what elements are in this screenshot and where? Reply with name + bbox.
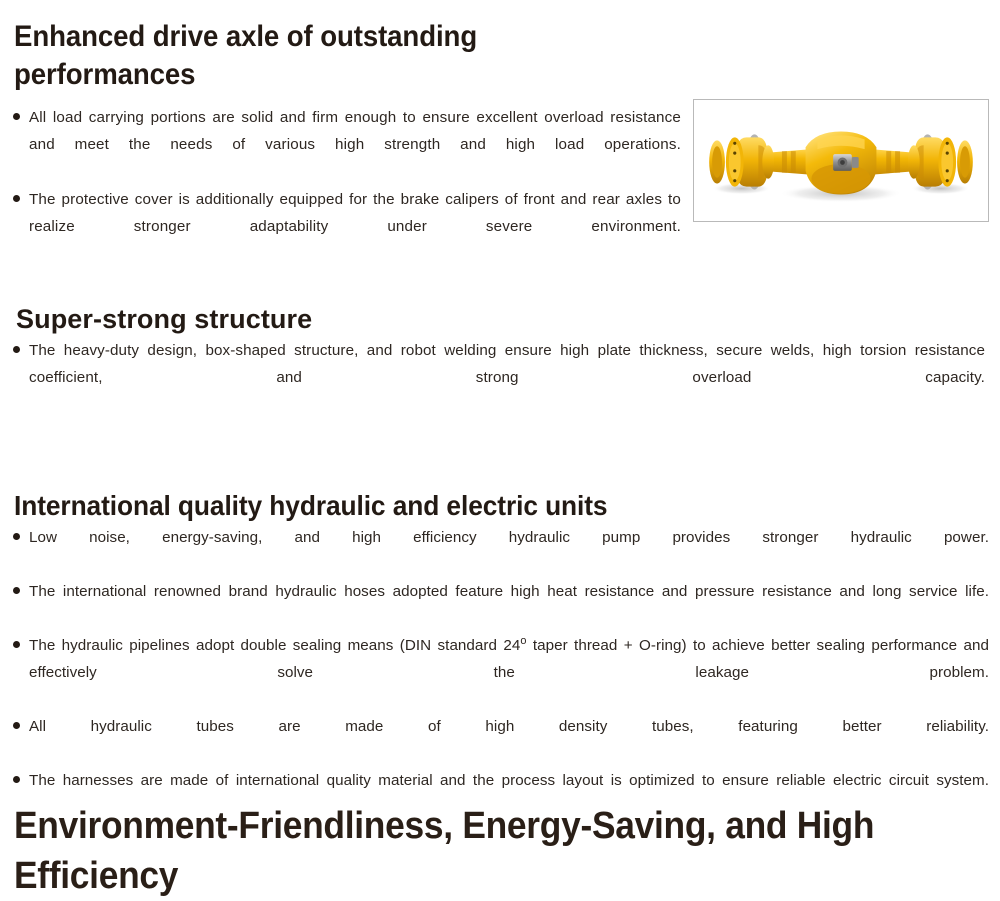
list-item-text: All hydraulic tubes are made of high den… [29,713,989,767]
bullet-dot-icon [13,722,20,729]
bullet-dot-icon [13,776,20,783]
feature-list-drive-axle: All load carrying portions are solid and… [13,104,681,268]
list-item-text: The international renowned brand hydraul… [29,578,989,632]
list-item: The protective cover is additionally equ… [13,186,681,267]
feature-list-international: Low noise, energy-saving, and high effic… [13,524,989,821]
bullet-dot-icon [13,641,20,648]
bullet-dot-icon [13,346,20,353]
list-item: The international renowned brand hydraul… [13,578,989,632]
document-page: Enhanced drive axle of outstanding perfo… [0,0,1000,895]
list-item-text: The hydraulic pipelines adopt double sea… [29,632,989,713]
list-item-text: All load carrying portions are solid and… [29,104,681,185]
list-item: The hydraulic pipelines adopt double sea… [13,632,989,713]
list-item: All load carrying portions are solid and… [13,104,681,185]
section-heading-super-strong: Super-strong structure [16,302,312,336]
bullet-dot-icon [13,587,20,594]
list-item-text: The protective cover is additionally equ… [29,186,681,267]
list-item-text: Low noise, energy-saving, and high effic… [29,524,989,578]
list-item-text: The heavy-duty design, box-shaped struct… [29,337,985,418]
bullet-dot-icon [13,533,20,540]
bullet-dot-icon [13,113,20,120]
drive-axle-illustration [694,100,988,221]
page-title-drive-axle: Enhanced drive axle of outstanding perfo… [14,18,658,94]
list-item: The heavy-duty design, box-shaped struct… [13,337,985,418]
list-item: All hydraulic tubes are made of high den… [13,713,989,767]
bullet-dot-icon [13,195,20,202]
drive-axle-photo [693,99,989,222]
list-item: Low noise, energy-saving, and high effic… [13,524,989,578]
section-heading-international: International quality hydraulic and elec… [14,488,607,524]
page-heading-environment: Environment-Friendliness, Energy-Saving,… [14,801,907,901]
feature-list-super-strong: The heavy-duty design, box-shaped struct… [13,337,985,419]
